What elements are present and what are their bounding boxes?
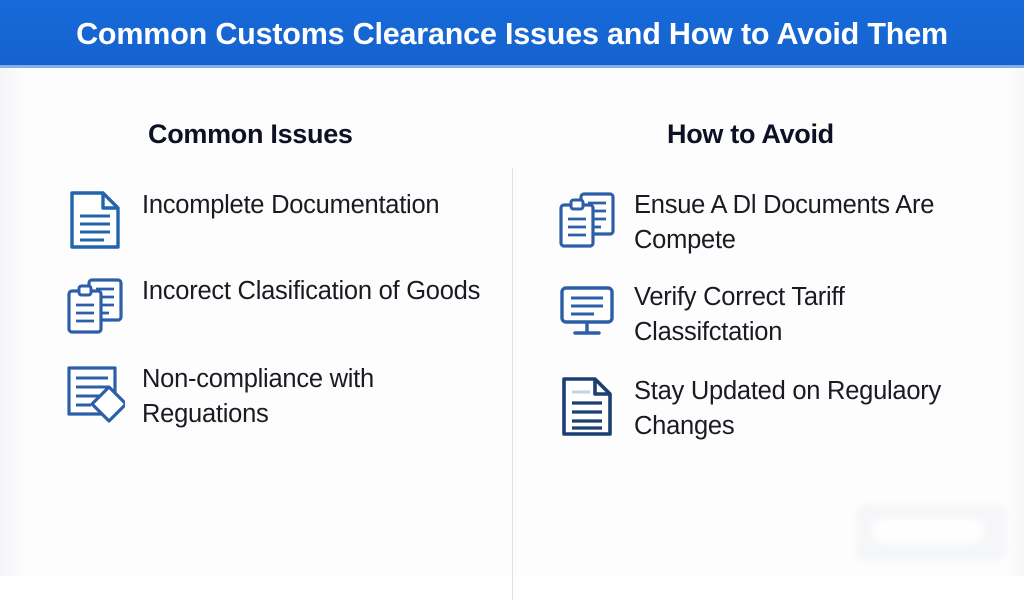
- document-lines-icon: [62, 186, 128, 252]
- document-badge-icon: [62, 360, 128, 426]
- column-divider: [512, 168, 513, 600]
- list-item[interactable]: Verify Correct Tariff Classifctation: [512, 278, 1024, 350]
- list-item[interactable]: Stay Updated on Regulaory Changes: [512, 372, 1024, 444]
- column-heading-right: How to Avoid: [667, 121, 834, 148]
- list-item[interactable]: Incorect Clasification of Goods: [0, 272, 512, 338]
- slide-header-bar: Common Customs Clearance Issues and How …: [0, 0, 1024, 68]
- slide-canvas: Common Customs Clearance Issues and How …: [0, 0, 1024, 576]
- avoid-list: Ensue A Dl Documents Are Compete: [512, 186, 1024, 444]
- clipboard-documents-icon: [62, 272, 128, 338]
- list-item[interactable]: Non-compliance with Reguations: [0, 360, 512, 432]
- list-item-label: Incorect Clasification of Goods: [128, 272, 480, 309]
- list-item-label: Verify Correct Tariff Classifctation: [620, 278, 974, 350]
- document-lines-filled-icon: [554, 372, 620, 438]
- column-how-to-avoid: How to Avoid: [512, 68, 1024, 576]
- column-common-issues: Common Issues Incomplete Documenta: [0, 68, 512, 576]
- watermark-shape: [872, 518, 984, 544]
- list-item-label: Stay Updated on Regulaory Changes: [620, 372, 974, 444]
- list-item[interactable]: Incomplete Documentation: [0, 186, 512, 252]
- spacer: [0, 252, 512, 272]
- list-item-label: Non-compliance with Reguations: [128, 360, 482, 432]
- monitor-lines-icon: [554, 278, 620, 344]
- page-title: Common Customs Clearance Issues and How …: [76, 19, 948, 50]
- watermark-logo: [856, 504, 1006, 562]
- issues-list: Incomplete Documentation: [0, 186, 512, 432]
- list-item[interactable]: Ensue A Dl Documents Are Compete: [512, 186, 1024, 258]
- spacer: [512, 258, 1024, 278]
- column-heading-left: Common Issues: [148, 121, 353, 148]
- list-item-label: Ensue A Dl Documents Are Compete: [620, 186, 974, 258]
- list-item-label: Incomplete Documentation: [128, 186, 439, 223]
- spacer: [0, 338, 512, 360]
- slide-body: Common Issues Incomplete Documenta: [0, 68, 1024, 576]
- clipboard-documents-icon: [554, 186, 620, 252]
- spacer: [512, 350, 1024, 372]
